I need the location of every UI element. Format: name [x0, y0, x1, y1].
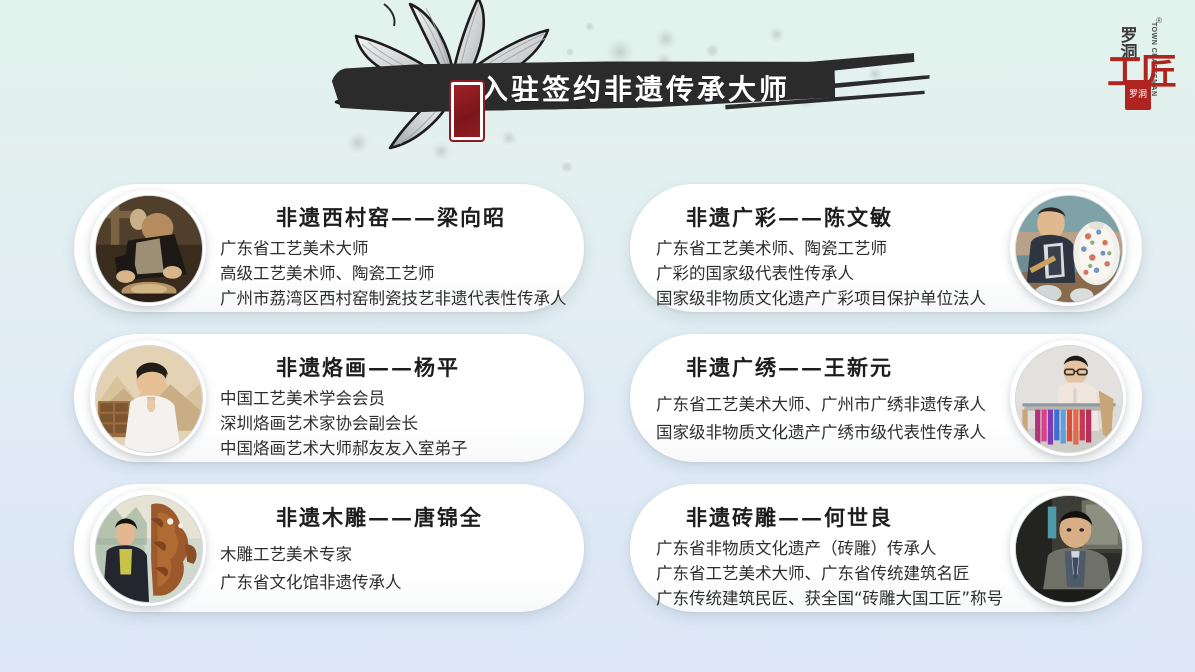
card-line: 广东传统建筑民匠、获全国“砖雕大国工匠”称号: [656, 586, 992, 611]
card-title: 非遗砖雕——何世良: [656, 502, 992, 532]
avatar-photo: [1015, 495, 1123, 603]
brand-logo[interactable]: ® TOWN CRAFTSMAN 罗洞 工匠 罗洞: [1091, 6, 1183, 118]
avatar-photo: [95, 195, 203, 303]
card-title: 非遗广绣——王新元: [656, 352, 992, 382]
card-body: 非遗广彩——陈文敏 广东省工艺美术师、陶瓷工艺师 广彩的国家级代表性传承人 国家…: [656, 184, 992, 312]
card-line: 中国工艺美术学会会员: [220, 386, 558, 411]
card-line: 高级工艺美术师、陶瓷工艺师: [220, 261, 558, 286]
avatar-photo: [95, 345, 203, 453]
title-banner: 入驻签约非遗传承大师: [330, 58, 895, 114]
avatar: [90, 490, 206, 606]
card-line: 广州市荔湾区西村窑制瓷技艺非遗代表性传承人: [220, 286, 558, 311]
card-line: 深圳烙画艺术家协会副会长: [220, 411, 558, 436]
card-line: 广东省工艺美术师、陶瓷工艺师: [656, 236, 992, 261]
red-seal-stamp: [449, 80, 485, 142]
card-body: 非遗西村窑——梁向昭 广东省工艺美术大师 高级工艺美术师、陶瓷工艺师 广州市荔湾…: [220, 184, 558, 312]
card-body: 非遗木雕——唐锦全 木雕工艺美术专家 广东省文化馆非遗传承人: [220, 484, 558, 612]
card-line: 国家级非物质文化遗产广彩项目保护单位法人: [656, 286, 992, 311]
card-line: 广东省工艺美术大师、广州市广绣非遗传承人: [656, 391, 992, 419]
avatar-photo: [1015, 195, 1123, 303]
card-description: 中国工艺美术学会会员 深圳烙画艺术家协会副会长 中国烙画艺术大师郝友友入室弟子: [220, 386, 558, 461]
master-card[interactable]: 非遗砖雕——何世良 广东省非物质文化遗产（砖雕）传承人 广东省工艺美术大师、广东…: [630, 484, 1142, 612]
master-card[interactable]: 非遗广彩——陈文敏 广东省工艺美术师、陶瓷工艺师 广彩的国家级代表性传承人 国家…: [630, 184, 1142, 312]
card-line: 广东省文化馆非遗传承人: [220, 569, 558, 597]
seal-inner: [454, 85, 480, 137]
master-card-grid: 非遗西村窑——梁向昭 广东省工艺美术大师 高级工艺美术师、陶瓷工艺师 广州市荔湾…: [0, 170, 1195, 640]
card-description: 木雕工艺美术专家 广东省文化馆非遗传承人: [220, 541, 558, 597]
avatar-photo: [95, 495, 203, 603]
master-card[interactable]: 非遗烙画——杨平 中国工艺美术学会会员 深圳烙画艺术家协会副会长 中国烙画艺术大…: [74, 334, 584, 462]
avatar: [1010, 490, 1126, 606]
avatar: [1010, 340, 1126, 456]
card-line: 广东省工艺美术大师: [220, 236, 558, 261]
card-description: 广东省非物质文化遗产（砖雕）传承人 广东省工艺美术大师、广东省传统建筑名匠 广东…: [656, 536, 992, 611]
card-body: 非遗广绣——王新元 广东省工艺美术大师、广州市广绣非遗传承人 国家级非物质文化遗…: [656, 334, 992, 462]
master-card[interactable]: 非遗西村窑——梁向昭 广东省工艺美术大师 高级工艺美术师、陶瓷工艺师 广州市荔湾…: [74, 184, 584, 312]
master-card[interactable]: 非遗木雕——唐锦全 木雕工艺美术专家 广东省文化馆非遗传承人: [74, 484, 584, 612]
avatar: [90, 340, 206, 456]
logo-seal-stamp: 罗洞: [1125, 80, 1151, 110]
card-title: 非遗西村窑——梁向昭: [220, 202, 558, 232]
card-title: 非遗木雕——唐锦全: [220, 502, 558, 532]
card-description: 广东省工艺美术师、陶瓷工艺师 广彩的国家级代表性传承人 国家级非物质文化遗产广彩…: [656, 236, 992, 311]
avatar-photo: [1015, 345, 1123, 453]
card-line: 广彩的国家级代表性传承人: [656, 261, 992, 286]
card-line: 国家级非物质文化遗产广绣市级代表性传承人: [656, 419, 992, 447]
page-title: 入驻签约非遗传承大师: [480, 68, 790, 108]
card-line: 木雕工艺美术专家: [220, 541, 558, 569]
card-title: 非遗广彩——陈文敏: [656, 202, 992, 232]
avatar: [90, 190, 206, 306]
card-description: 广东省工艺美术大师 高级工艺美术师、陶瓷工艺师 广州市荔湾区西村窑制瓷技艺非遗代…: [220, 236, 558, 311]
card-line: 广东省工艺美术大师、广东省传统建筑名匠: [656, 561, 992, 586]
master-card[interactable]: 非遗广绣——王新元 广东省工艺美术大师、广州市广绣非遗传承人 国家级非物质文化遗…: [630, 334, 1142, 462]
card-description: 广东省工艺美术大师、广州市广绣非遗传承人 国家级非物质文化遗产广绣市级代表性传承…: [656, 391, 992, 447]
card-line: 广东省非物质文化遗产（砖雕）传承人: [656, 536, 992, 561]
card-line: 中国烙画艺术大师郝友友入室弟子: [220, 436, 558, 461]
card-body: 非遗砖雕——何世良 广东省非物质文化遗产（砖雕）传承人 广东省工艺美术大师、广东…: [656, 484, 992, 612]
card-title: 非遗烙画——杨平: [220, 352, 558, 382]
page-header: 入驻签约非遗传承大师 ® TOWN CRAFTSMAN 罗洞 工匠 罗洞: [0, 0, 1195, 160]
avatar: [1010, 190, 1126, 306]
card-body: 非遗烙画——杨平 中国工艺美术学会会员 深圳烙画艺术家协会副会长 中国烙画艺术大…: [220, 334, 558, 462]
